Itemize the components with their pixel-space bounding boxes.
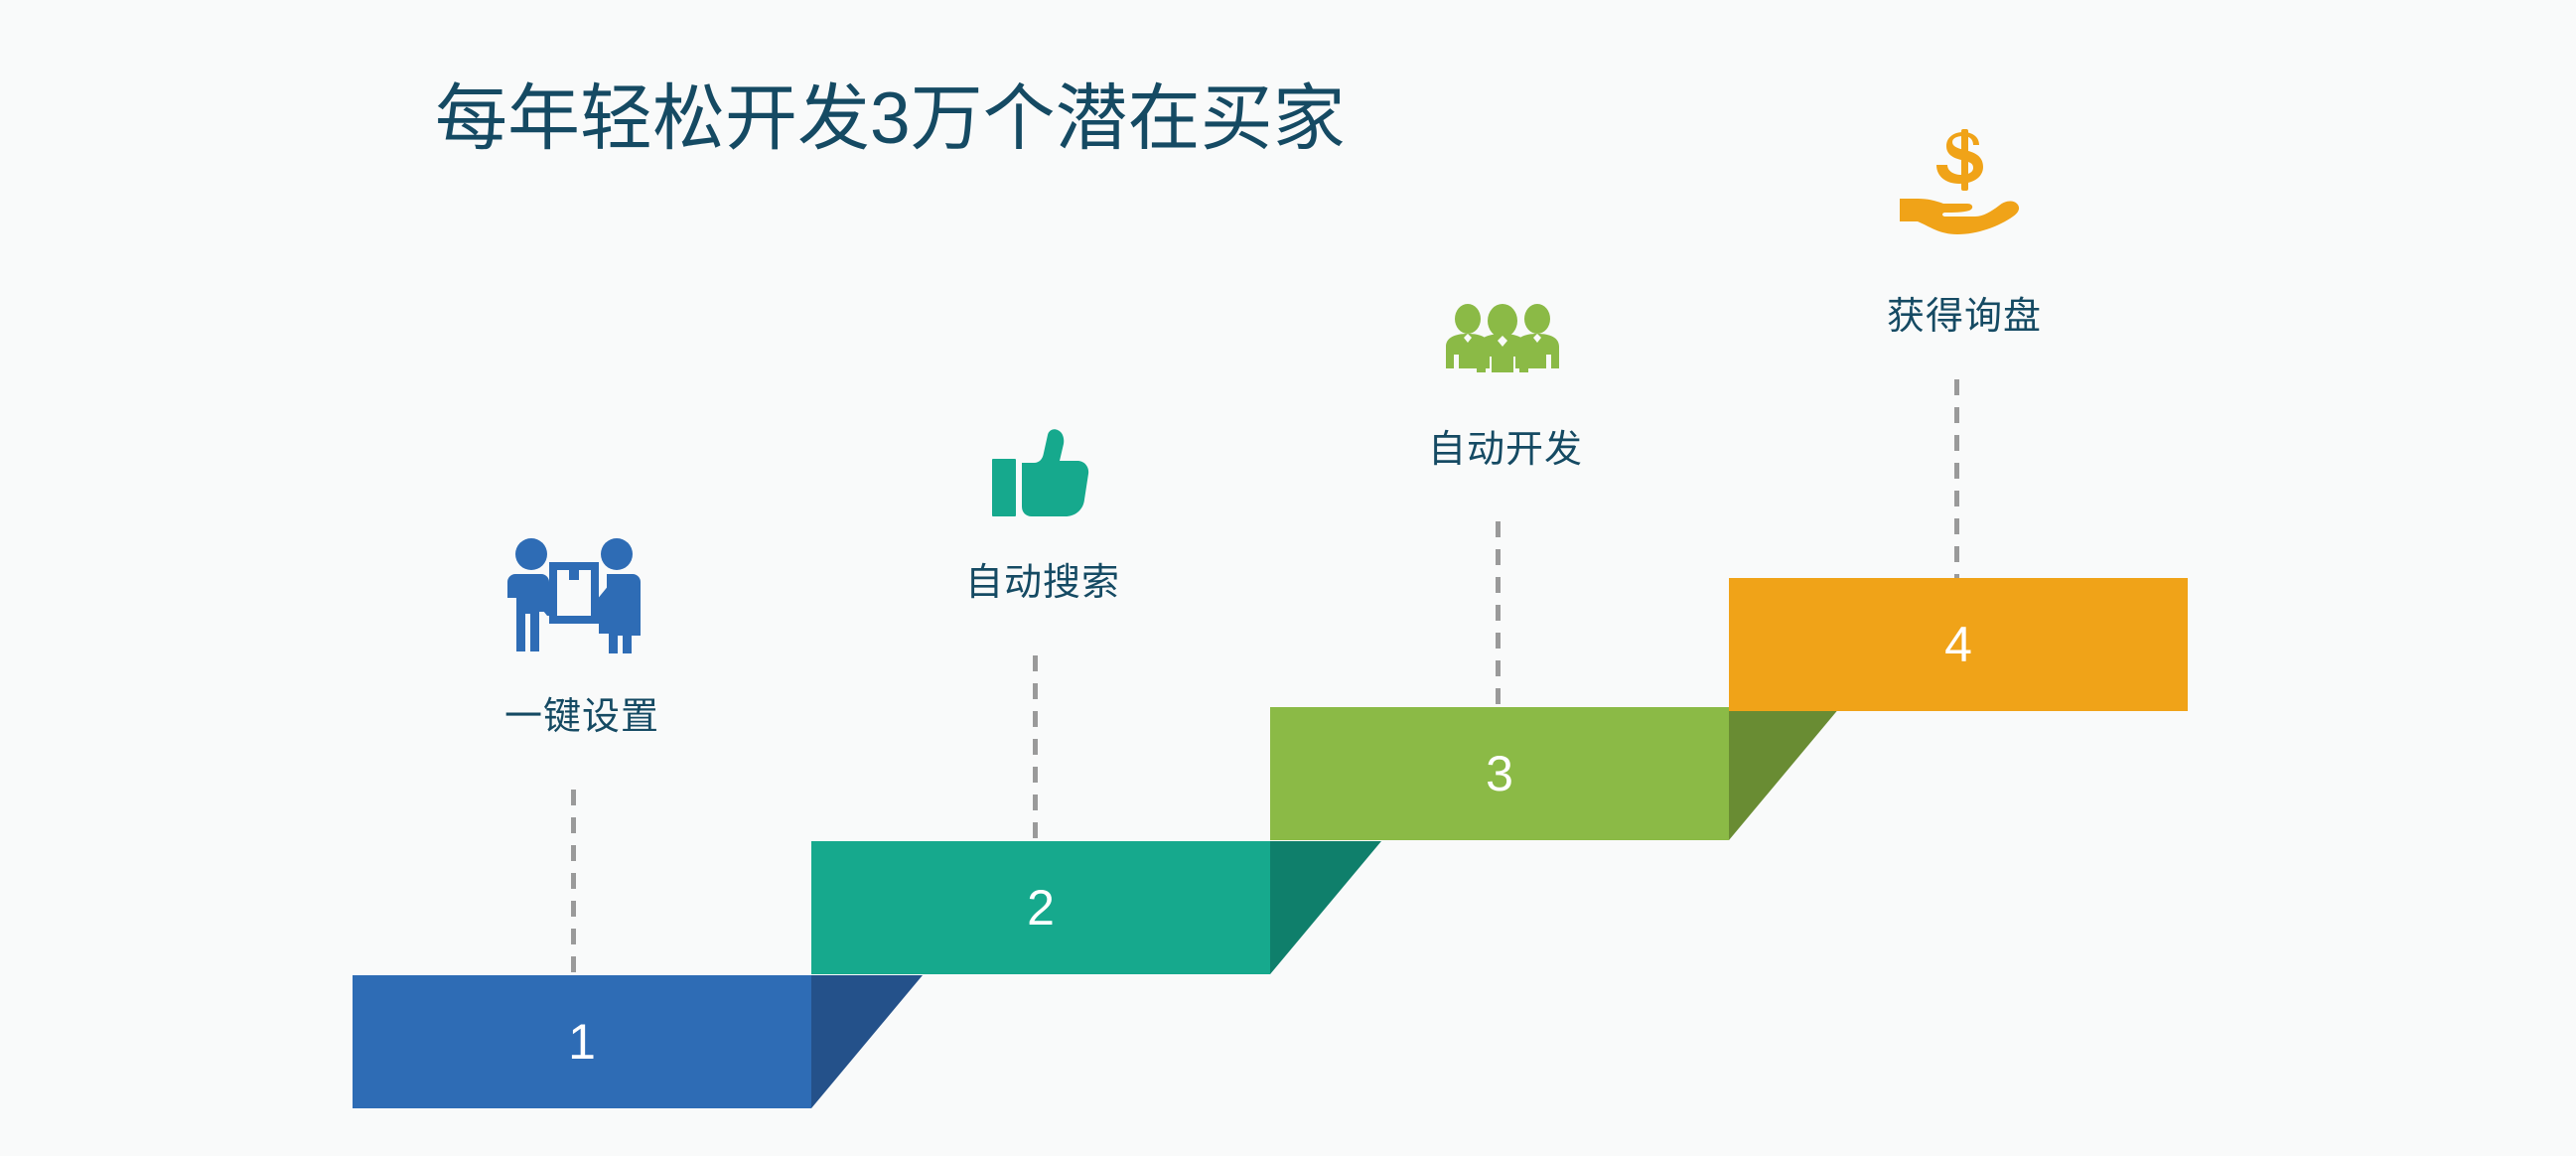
step-caption-1: 一键设置	[504, 698, 659, 736]
infographic-canvas: 每年轻松开发3万个潜在买家 1 一键设置	[0, 0, 2576, 1156]
thumbs-up-icon	[992, 429, 1089, 518]
step-riser-3	[1729, 707, 1840, 840]
leader-line-1	[571, 790, 576, 975]
leader-line-2	[1033, 655, 1038, 841]
step-number-4: 4	[1729, 578, 2188, 711]
step-caption-3: 自动开发	[1428, 431, 1583, 469]
step-number-2: 2	[811, 841, 1270, 974]
step-caption-4: 获得询盘	[1887, 298, 2042, 336]
step-riser-1	[811, 975, 923, 1108]
two-people-carrying-box-icon	[505, 536, 643, 653]
page-title: 每年轻松开发3万个潜在买家	[435, 79, 1346, 159]
leader-line-4	[1954, 379, 1959, 578]
step-caption-2: 自动搜索	[965, 564, 1120, 602]
step-riser-2	[1270, 841, 1381, 974]
step-number-3: 3	[1270, 707, 1729, 840]
three-people-group-icon	[1442, 303, 1563, 372]
hand-holding-dollar-icon	[1900, 129, 2027, 234]
step-number-1: 1	[353, 975, 811, 1108]
leader-line-3	[1496, 521, 1501, 707]
